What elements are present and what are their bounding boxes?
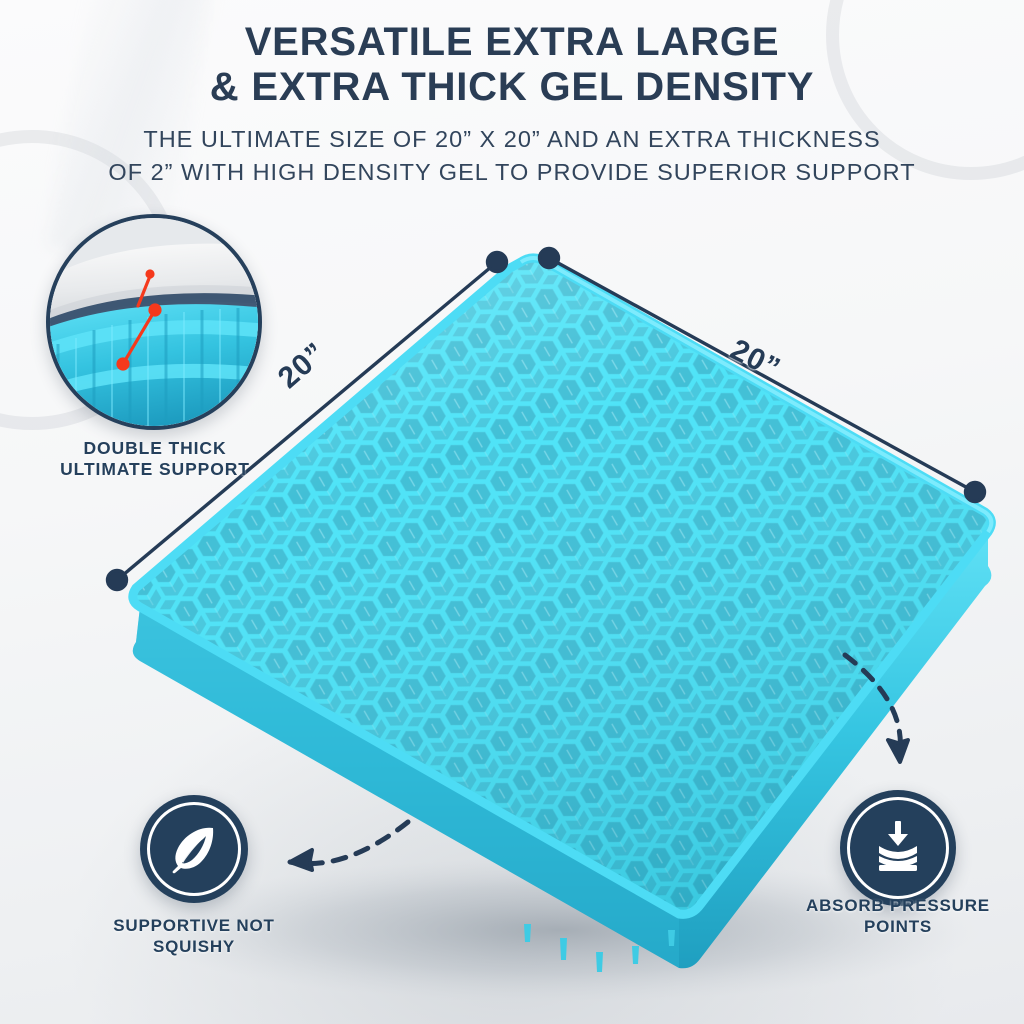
page-subtitle-line2: OF 2” WITH HIGH DENSITY GEL TO PROVIDE S… [0, 157, 1024, 188]
cross-section-detail-icon [50, 218, 258, 426]
cross-section-detail-circle [46, 214, 262, 430]
feature-caption-supportive-not-squishy: SUPPORTIVE NOT SQUISHY [74, 916, 314, 957]
cross-section-caption: DOUBLE THICK ULTIMATE SUPPORT [10, 438, 300, 481]
feature-badge-absorb-pressure-points[interactable] [840, 790, 956, 906]
feather-icon [163, 818, 225, 880]
feature-caption-line1: ABSORB PRESSURE [806, 896, 990, 915]
infographic-canvas: VERSATILE EXTRA LARGE & EXTRA THICK GEL … [0, 0, 1024, 1024]
page-subtitle-line1: THE ULTIMATE SIZE OF 20” X 20” AND AN EX… [0, 124, 1024, 155]
feature-badge-supportive-not-squishy[interactable] [140, 795, 248, 903]
header-block: VERSATILE EXTRA LARGE & EXTRA THICK GEL … [0, 20, 1024, 188]
cross-section-caption-line2: ULTIMATE SUPPORT [60, 459, 250, 479]
feature-caption-line2: SQUISHY [153, 937, 235, 956]
pressure-absorb-icon [866, 816, 930, 880]
feature-caption-line1: SUPPORTIVE NOT [113, 916, 274, 935]
feature-caption-absorb-pressure-points: ABSORB PRESSURE POINTS [778, 896, 1018, 937]
cross-section-caption-line1: DOUBLE THICK [83, 438, 226, 458]
page-title-line2: & EXTRA THICK GEL DENSITY [0, 65, 1024, 110]
feature-caption-line2: POINTS [864, 917, 932, 936]
page-title-line1: VERSATILE EXTRA LARGE [0, 20, 1024, 65]
